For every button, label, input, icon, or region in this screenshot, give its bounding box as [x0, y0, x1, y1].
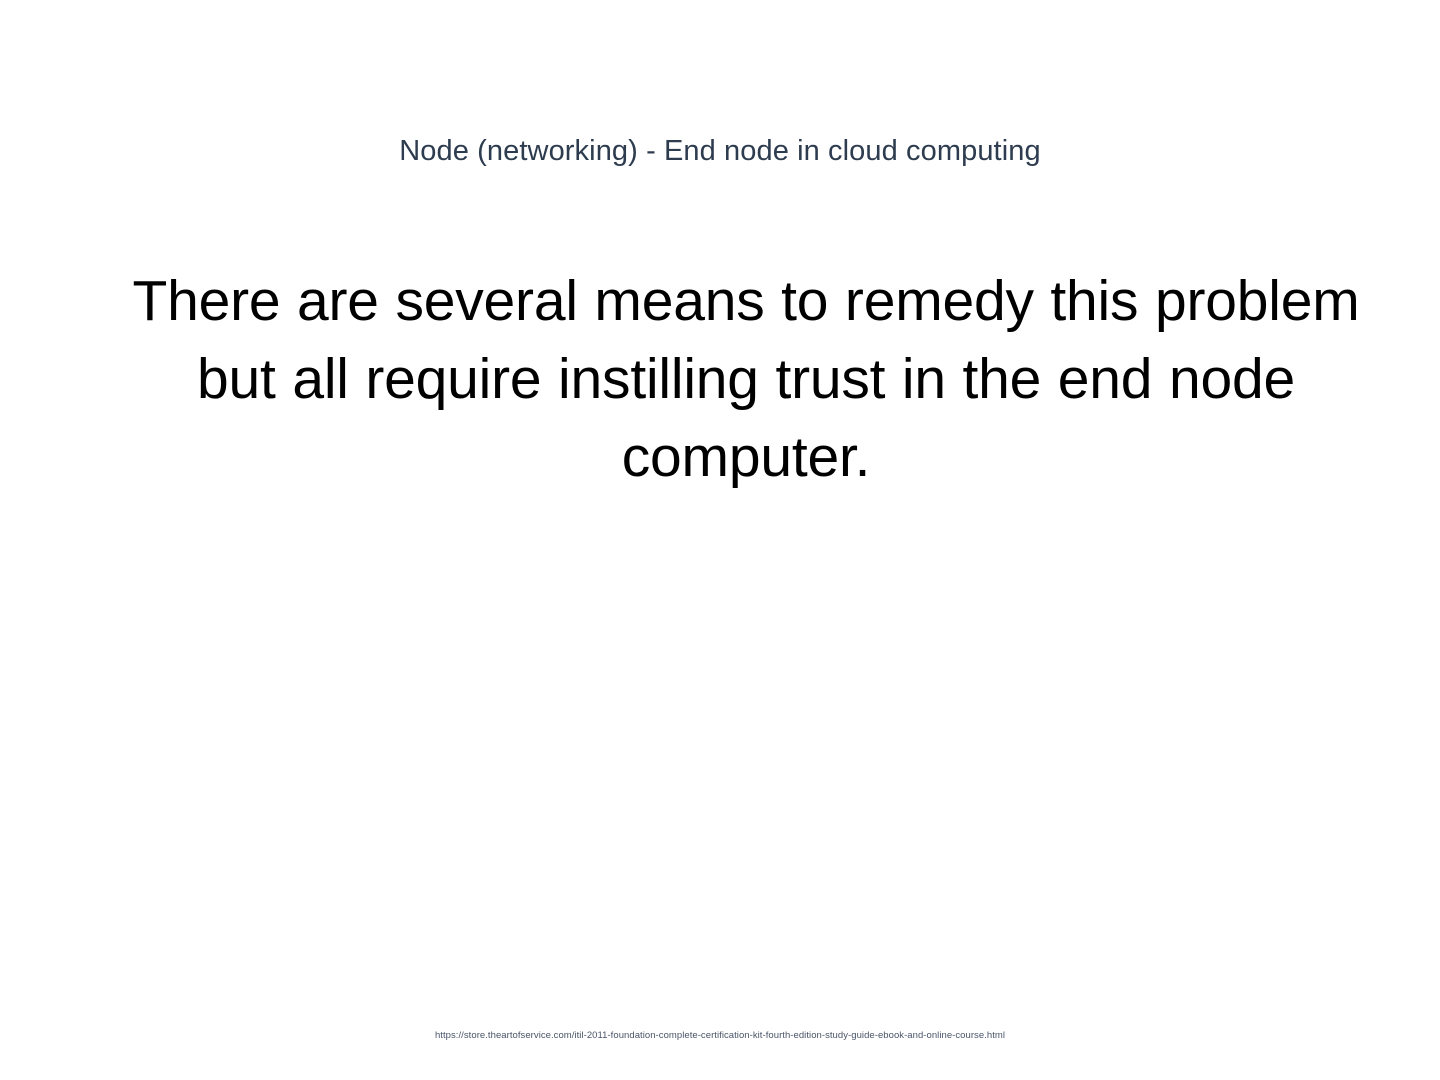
- slide-title: Node (networking) - End node in cloud co…: [0, 132, 1440, 170]
- slide-body-text: There are several means to remedy this p…: [96, 262, 1396, 496]
- slide-canvas: Node (networking) - End node in cloud co…: [0, 0, 1440, 1080]
- slide-footer-url[interactable]: https://store.theartofservice.com/itil-2…: [0, 1029, 1440, 1042]
